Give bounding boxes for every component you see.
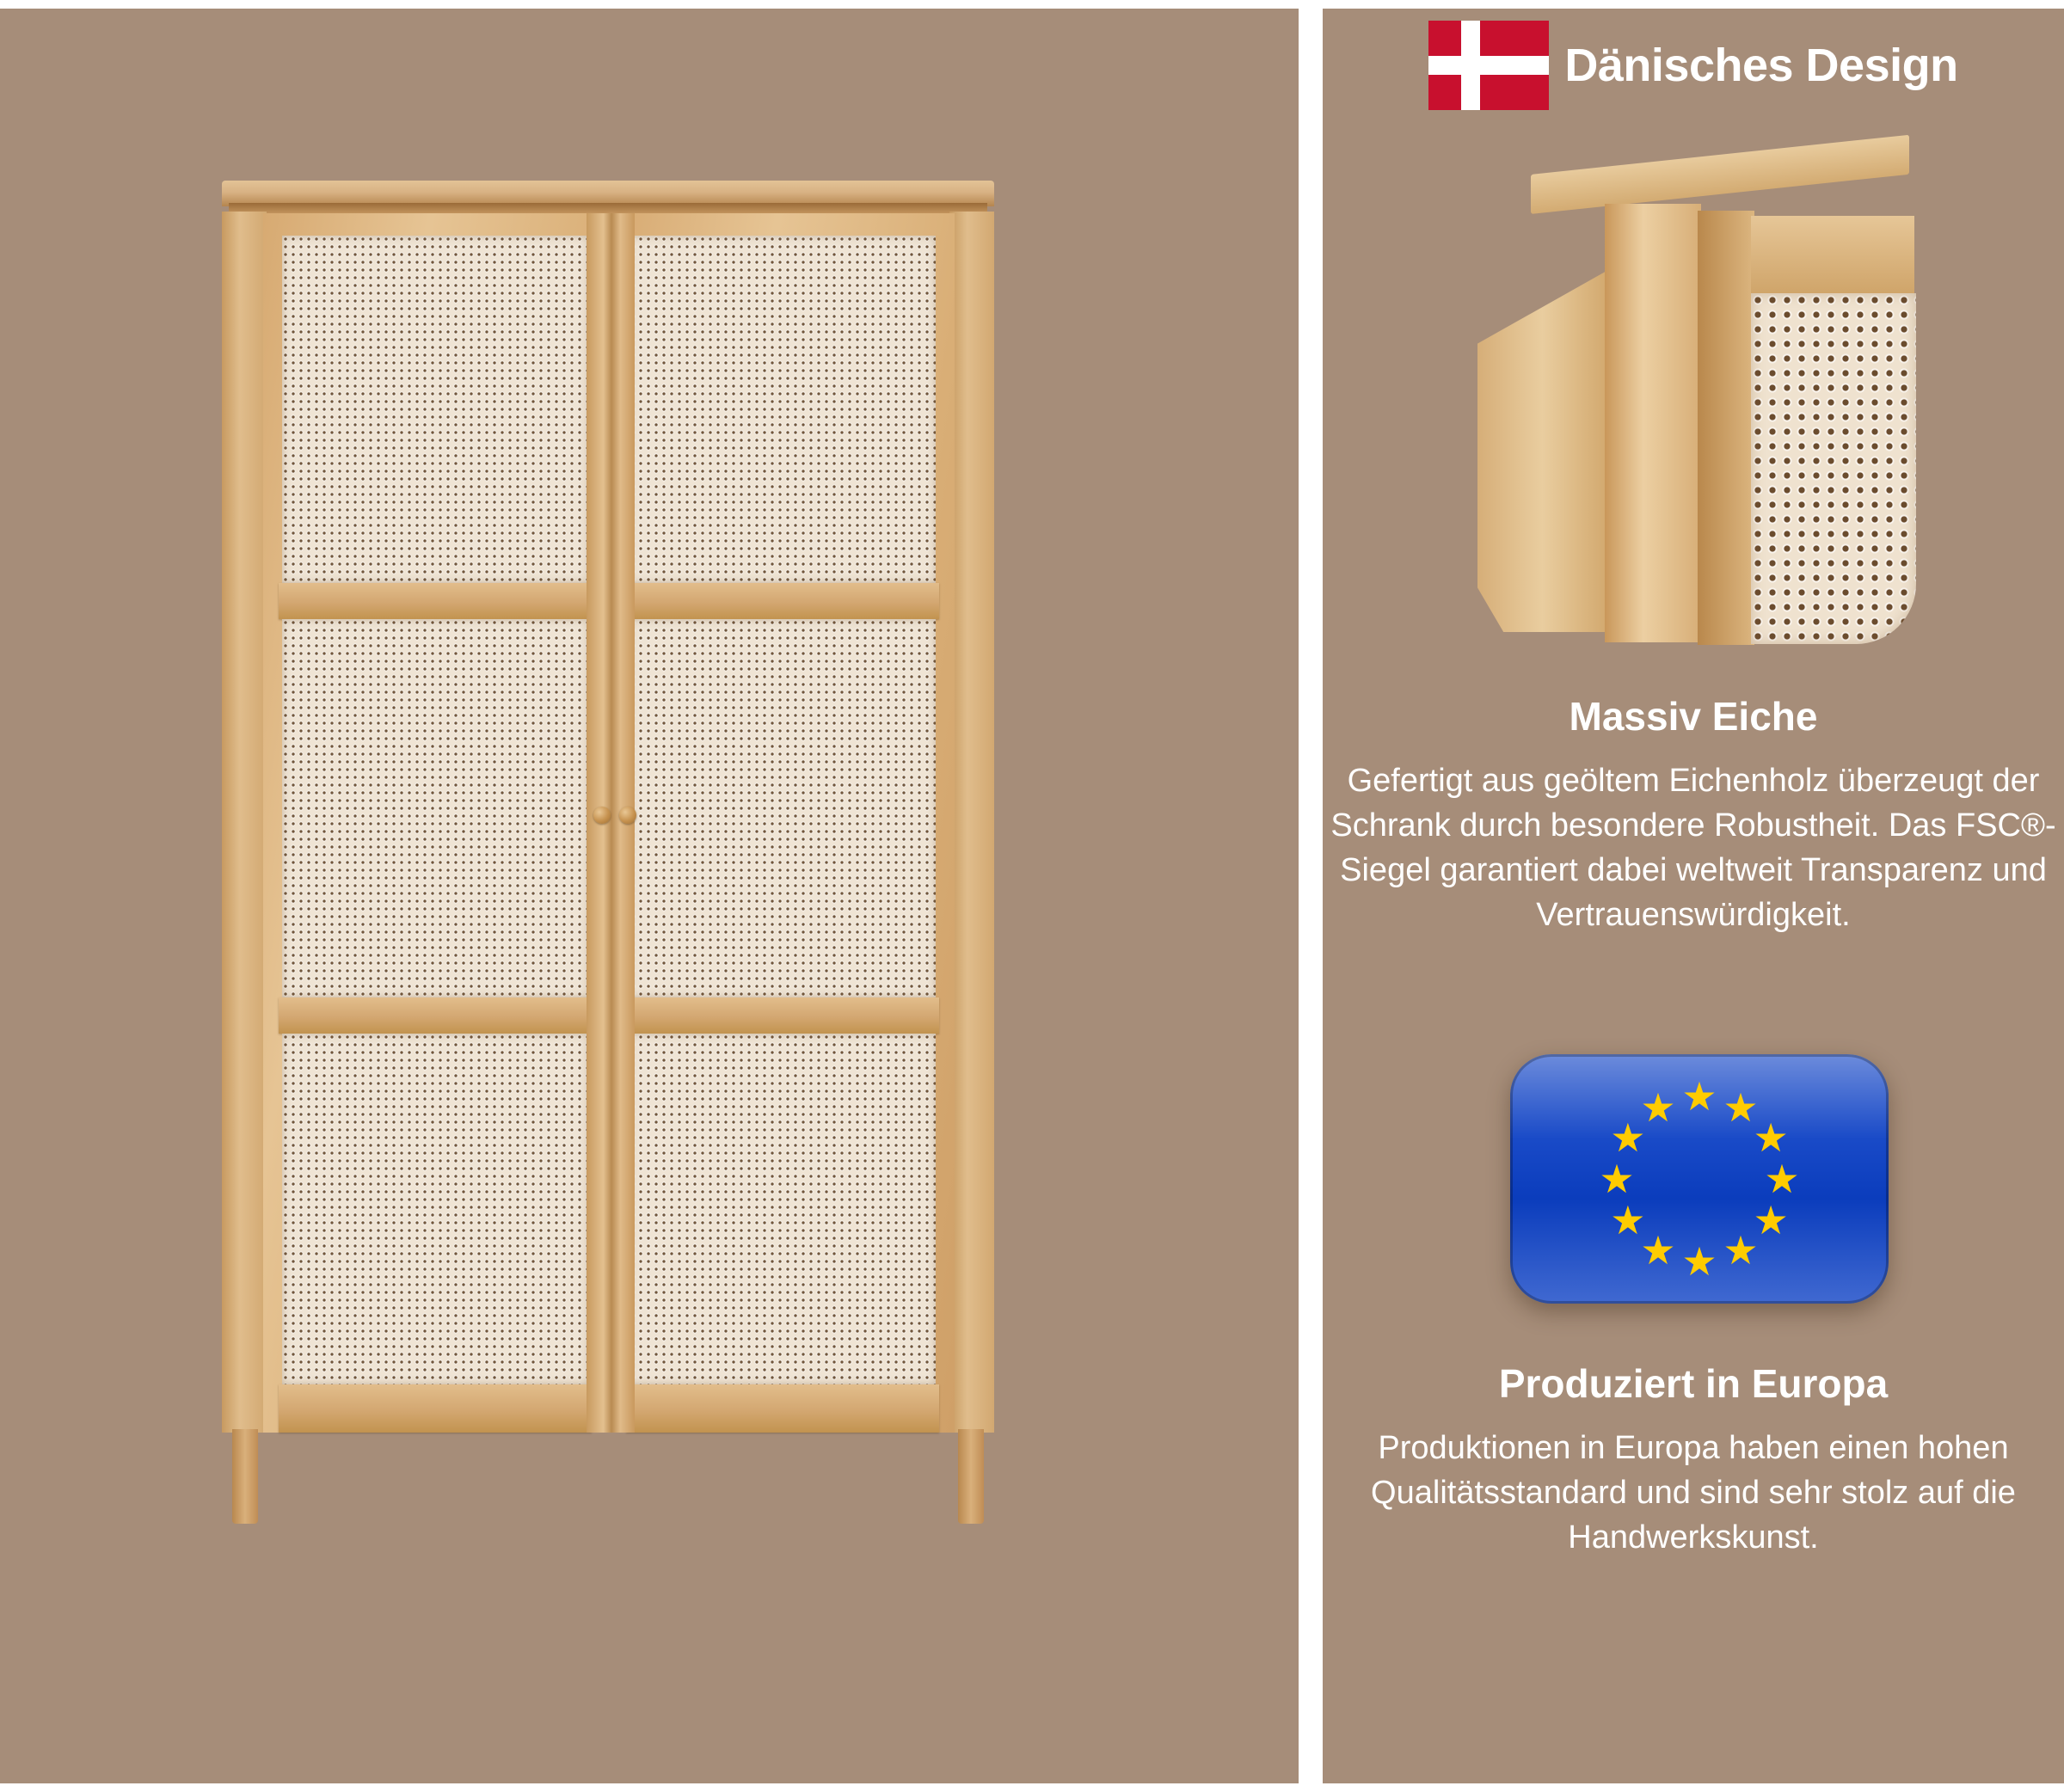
corner-door-top-rail (1751, 216, 1914, 295)
oak-cabinet-corner-detail-image (1477, 159, 1916, 649)
door-knob-left-icon (593, 807, 611, 824)
panel-divider (1299, 0, 1323, 1792)
wardrobe-product-image (222, 181, 994, 1617)
infographic-root: Dänisches Design Massiv Eiche Gefertigt … (0, 0, 2064, 1792)
eu-star-icon: ★ (1597, 1159, 1637, 1199)
eu-star-icon: ★ (1680, 1242, 1719, 1281)
corner-door-stile (1698, 211, 1754, 645)
door-knob-right-icon (619, 807, 636, 824)
eu-star-icon: ★ (1638, 1088, 1678, 1127)
door-rail-right-lower (626, 997, 939, 1034)
wardrobe-leg-left (232, 1429, 258, 1524)
corner-front-stile (1605, 204, 1701, 642)
cane-panel-right-top (630, 236, 936, 583)
feature-body-produziert-in-europa: Produktionen in Europa haben einen hohen… (1323, 1426, 2064, 1560)
feature-title-massiv-eiche: Massiv Eiche (1323, 693, 2064, 740)
eu-star-icon: ★ (1680, 1077, 1719, 1116)
door-rail-right-bottom (626, 1384, 939, 1433)
eu-flag-badge-icon: ★★★★★★★★★★★★ (1510, 1054, 1889, 1304)
corner-side-panel (1477, 262, 1622, 632)
feature-title-produziert-in-europa: Produziert in Europa (1323, 1360, 2064, 1407)
cane-panel-right-middle (630, 619, 936, 997)
wardrobe-door-right (611, 213, 955, 1433)
danish-design-header: Dänisches Design (1323, 26, 2064, 105)
eu-star-icon: ★ (1751, 1118, 1791, 1157)
wardrobe-leg-right (958, 1429, 984, 1524)
wardrobe-side-stile-right (949, 212, 994, 1433)
corner-top-board (1531, 135, 1909, 214)
door-rail-right-upper (626, 583, 939, 619)
cane-panel-right-bottom (630, 1034, 936, 1384)
door-rail-left-upper (279, 583, 592, 619)
danish-flag-cross-horizontal (1428, 56, 1549, 75)
door-rail-left-lower (279, 997, 592, 1034)
door-right-inner (630, 236, 936, 1410)
danish-design-title: Dänisches Design (1564, 39, 1957, 92)
door-rail-left-bottom (279, 1384, 592, 1433)
product-image-panel (0, 9, 1299, 1783)
wardrobe-side-stile-left (222, 212, 267, 1433)
door-left-inner (282, 236, 588, 1410)
danish-flag-icon (1428, 21, 1549, 110)
wardrobe-door-left (263, 213, 607, 1433)
corner-cane-webbing (1751, 293, 1916, 644)
features-panel: Dänisches Design Massiv Eiche Gefertigt … (1323, 9, 2064, 1783)
cane-panel-left-bottom (282, 1034, 588, 1384)
eu-star-icon: ★ (1762, 1159, 1802, 1199)
cane-panel-left-top (282, 236, 588, 583)
cane-panel-left-middle (282, 619, 588, 997)
eu-star-icon: ★ (1721, 1230, 1760, 1270)
eu-star-icon: ★ (1608, 1200, 1648, 1240)
feature-body-massiv-eiche: Gefertigt aus geöltem Eichenholz überzeu… (1323, 758, 2064, 937)
